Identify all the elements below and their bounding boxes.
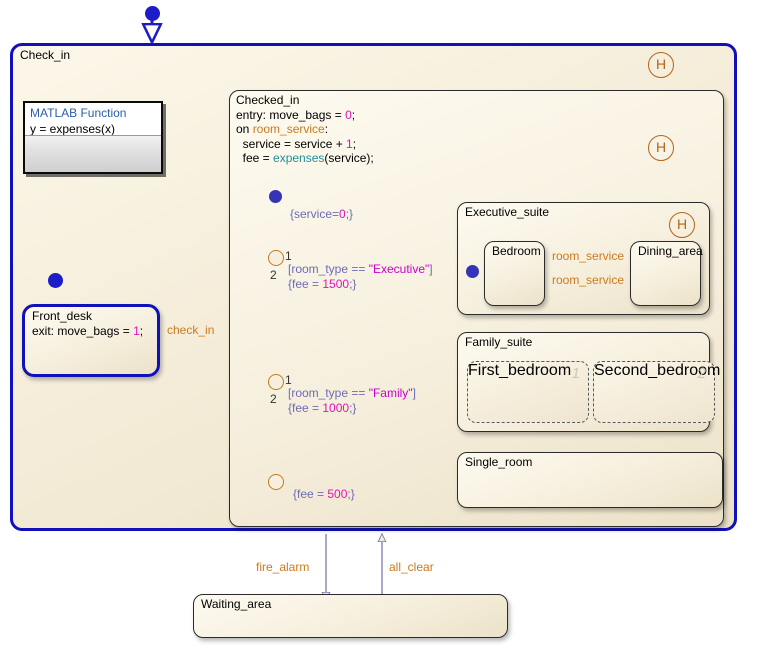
transition-label-all-clear: all_clear <box>389 560 434 574</box>
state-front-desk-text: Front_desk exit: move_bags = 1; <box>32 309 143 338</box>
junction-room-type-1[interactable] <box>268 250 284 266</box>
state-executive-suite-label: Executive_suite <box>465 205 549 219</box>
history-junction-checked-in[interactable]: H <box>648 135 674 161</box>
parallel-order-first-bedroom: 1 <box>572 365 580 382</box>
transition-label-fire-alarm: fire_alarm <box>256 560 309 574</box>
matlab-function-body <box>25 135 161 172</box>
state-waiting-area-label: Waiting_area <box>201 597 271 611</box>
state-first-bedroom[interactable]: First_bedroom 1 <box>467 361 589 423</box>
transition-label-single: {fee = 500;} <box>293 487 355 502</box>
state-front-desk[interactable]: Front_desk exit: move_bags = 1; <box>22 304 160 377</box>
transition-label-check-in: check_in <box>167 323 214 337</box>
transition-label-room-service-1: room_service <box>552 249 624 263</box>
transition-label-executive: [room_type == "Executive"] {fee = 1500;} <box>288 262 433 291</box>
transition-label-service-init: {service=0;} <box>290 207 353 222</box>
state-dining-area[interactable]: Dining_area <box>630 241 701 306</box>
matlab-function-signature: y = expenses(x) <box>30 122 115 136</box>
stateflow-canvas[interactable]: Check_in H MATLAB Function y = expenses(… <box>0 0 762 650</box>
default-transition-dot-root[interactable] <box>145 6 160 21</box>
state-dining-area-label: Dining_area <box>638 244 703 258</box>
default-transition-dot-checked-in[interactable] <box>269 190 282 203</box>
parallel-order-second-bedroom: 2 <box>698 365 706 382</box>
state-family-suite-label: Family_suite <box>465 335 532 349</box>
transition-label-family: [room_type == "Family"] {fee = 1000;} <box>288 386 416 415</box>
history-junction-executive-suite[interactable]: H <box>669 212 695 238</box>
transition-order-family-else: 2 <box>270 392 277 406</box>
state-second-bedroom[interactable]: Second_bedroom 2 <box>593 361 715 423</box>
default-transition-dot-front-desk[interactable] <box>48 273 63 288</box>
history-junction-check-in[interactable]: H <box>648 52 674 78</box>
state-first-bedroom-label: First_bedroom <box>468 362 571 379</box>
junction-room-type-2[interactable] <box>268 374 284 390</box>
transition-label-room-service-2: room_service <box>552 273 624 287</box>
junction-single-room[interactable] <box>268 474 284 490</box>
state-bedroom[interactable]: Bedroom <box>484 241 545 306</box>
state-single-room-label: Single_room <box>465 455 532 469</box>
transition-order-family: 1 <box>285 373 292 387</box>
transition-order-exec: 1 <box>285 249 292 263</box>
state-checked-in-text: Checked_in entry: move_bags = 0; on room… <box>236 93 374 166</box>
matlab-function-block[interactable]: MATLAB Function y = expenses(x) <box>23 101 163 174</box>
matlab-function-title: MATLAB Function <box>30 106 126 120</box>
default-transition-dot-bedroom[interactable] <box>466 265 479 278</box>
state-bedroom-label: Bedroom <box>492 244 541 258</box>
transition-order-exec-else: 2 <box>270 268 277 282</box>
state-waiting-area[interactable]: Waiting_area <box>193 594 508 638</box>
state-check-in-label: Check_in <box>20 48 70 62</box>
state-single-room[interactable]: Single_room <box>457 452 723 508</box>
